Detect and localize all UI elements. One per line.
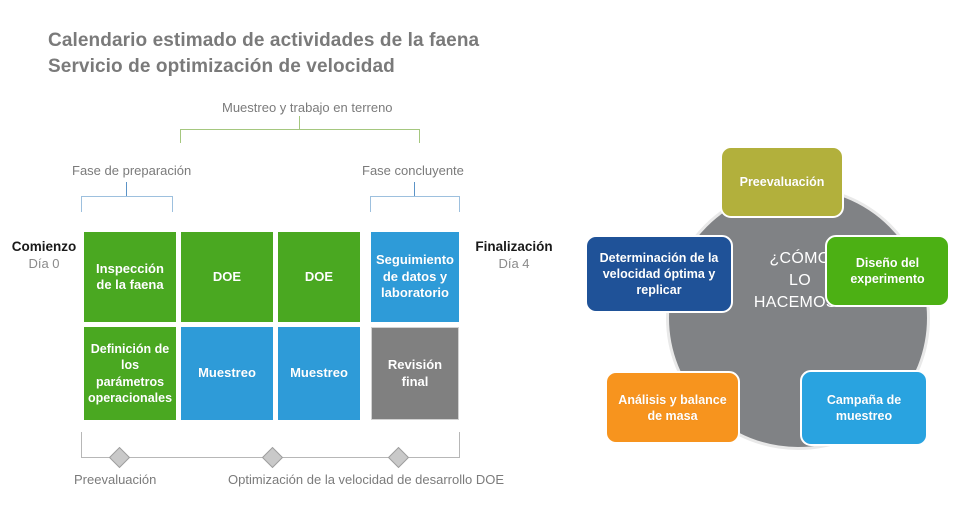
task-block[interactable]: Muestreo [278, 327, 360, 420]
top-bracket-label: Muestreo y trabajo en terreno [222, 100, 393, 115]
milestone-caption: Preevaluación [74, 472, 156, 487]
start-title: Comienzo [6, 238, 82, 255]
task-block[interactable]: DOE [278, 232, 360, 322]
task-block[interactable]: Muestreo [181, 327, 273, 420]
task-block[interactable]: Definición de los parámetros operacional… [84, 327, 176, 420]
cycle-node-sampling-campaign[interactable]: Campaña de muestreo [800, 370, 928, 446]
cycle-node-experiment-design[interactable]: Diseño del experimento [825, 235, 950, 307]
phase-label-preparation: Fase de preparación [72, 163, 191, 178]
phase-label-conclusive: Fase concluyente [362, 163, 464, 178]
start-label: Comienzo Día 0 [6, 238, 82, 272]
task-block[interactable]: Seguimiento de datos y laboratorio [371, 232, 459, 322]
milestone-caption: Optimización de la velocidad de desarrol… [228, 472, 504, 487]
cycle-node-preevaluation[interactable]: Preevaluación [720, 146, 844, 218]
task-block[interactable]: Revisión final [371, 327, 459, 420]
end-day: Día 4 [466, 255, 562, 272]
right-phase-stem [414, 182, 415, 197]
end-title: Finalización [466, 238, 562, 255]
top-bracket-stem [299, 116, 300, 130]
cycle-diagram: ¿CÓMO LO HACEMOS? Preevaluación Diseño d… [560, 0, 980, 518]
start-day: Día 0 [6, 255, 82, 272]
cycle-node-optimal-speed[interactable]: Determinación de la velocidad óptima y r… [585, 235, 733, 313]
gantt-diagram: Muestreo y trabajo en terreno Fase de pr… [0, 0, 560, 518]
end-label: Finalización Día 4 [466, 238, 562, 272]
top-bracket-shape [180, 129, 420, 143]
left-phase-bracket [81, 196, 173, 212]
right-phase-bracket [370, 196, 460, 212]
cycle-node-analysis-mass-balance[interactable]: Análisis y balance de masa [605, 371, 740, 444]
task-block[interactable]: DOE [181, 232, 273, 322]
left-phase-stem [126, 182, 127, 197]
task-block[interactable]: Inspección de la faena [84, 232, 176, 322]
